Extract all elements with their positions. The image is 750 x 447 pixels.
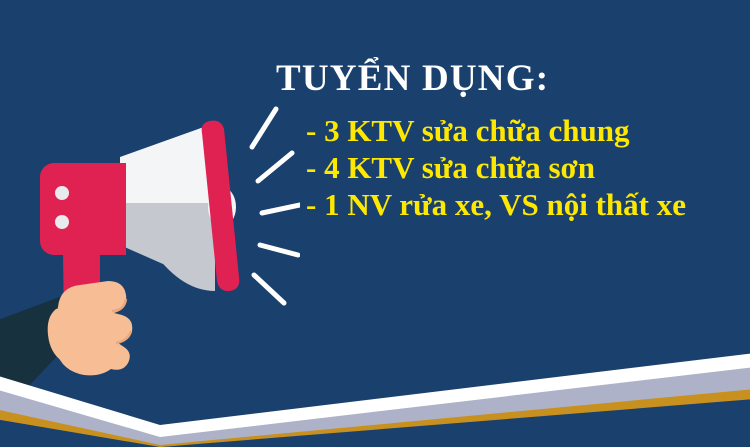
recruitment-poster: TUYỂN DỤNG: - 3 KTV sửa chữa chung - 4 K… xyxy=(0,0,750,447)
list-item: - 3 KTV sửa chữa chung xyxy=(306,113,746,150)
list-item: - 4 KTV sửa chữa sơn xyxy=(306,150,746,187)
text-block: TUYỂN DỤNG: - 3 KTV sửa chữa chung - 4 K… xyxy=(276,58,746,223)
megaphone-button-lower xyxy=(55,215,69,229)
sound-wave-1 xyxy=(252,109,276,147)
page-title: TUYỂN DỤNG: xyxy=(276,58,746,99)
bottom-chevron-banner xyxy=(0,337,750,447)
sound-wave-4 xyxy=(260,245,298,255)
megaphone-button-upper xyxy=(55,186,69,200)
job-openings-list: - 3 KTV sửa chữa chung - 4 KTV sửa chữa … xyxy=(276,113,746,223)
sound-wave-5 xyxy=(254,275,284,303)
megaphone-body-joint xyxy=(96,163,126,255)
list-item: - 1 NV rửa xe, VS nội thất xe xyxy=(306,187,746,224)
megaphone-cone-light xyxy=(120,123,215,203)
